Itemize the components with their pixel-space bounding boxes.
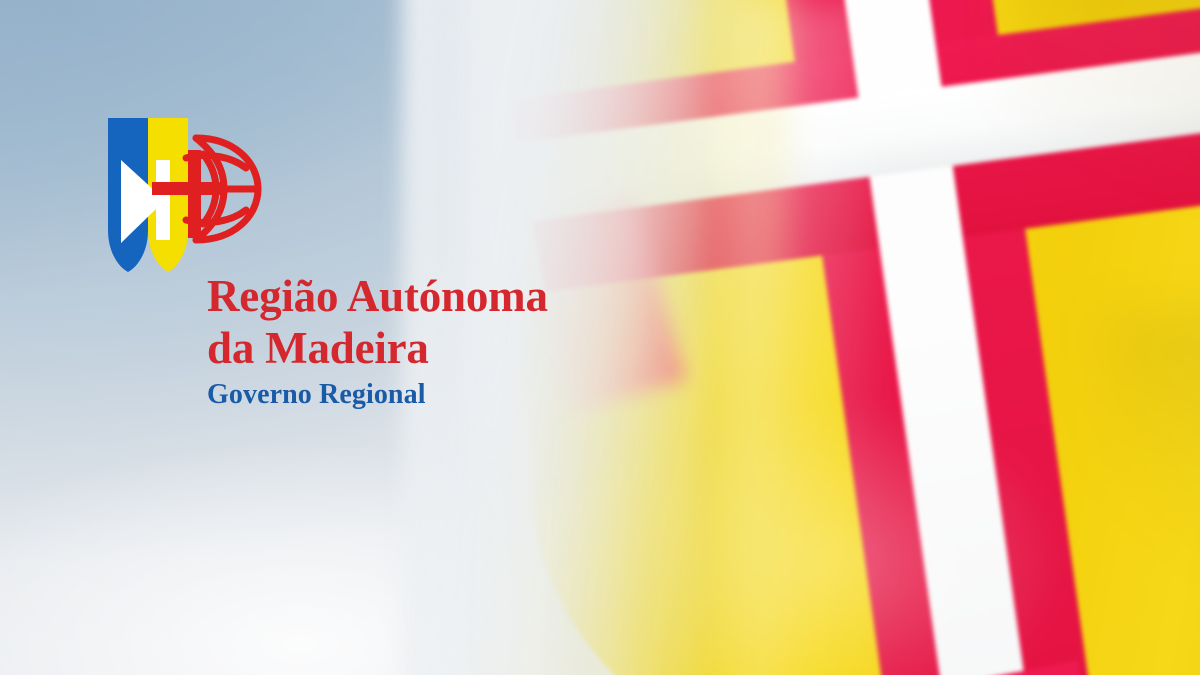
emblem-svg — [104, 112, 274, 278]
cross-horizontal-bar — [152, 182, 224, 195]
government-logo[interactable]: Região Autónoma da Madeira Governo Regio… — [104, 112, 664, 278]
wordmark: Região Autónoma da Madeira Governo Regio… — [207, 270, 677, 412]
coat-of-arms-emblem — [104, 112, 274, 278]
wordmark-line-2: da Madeira — [207, 322, 677, 374]
wordmark-line-1: Região Autónoma — [207, 270, 677, 322]
wordmark-subtitle: Governo Regional — [207, 378, 677, 412]
banner-canvas: Região Autónoma da Madeira Governo Regio… — [0, 0, 1200, 675]
